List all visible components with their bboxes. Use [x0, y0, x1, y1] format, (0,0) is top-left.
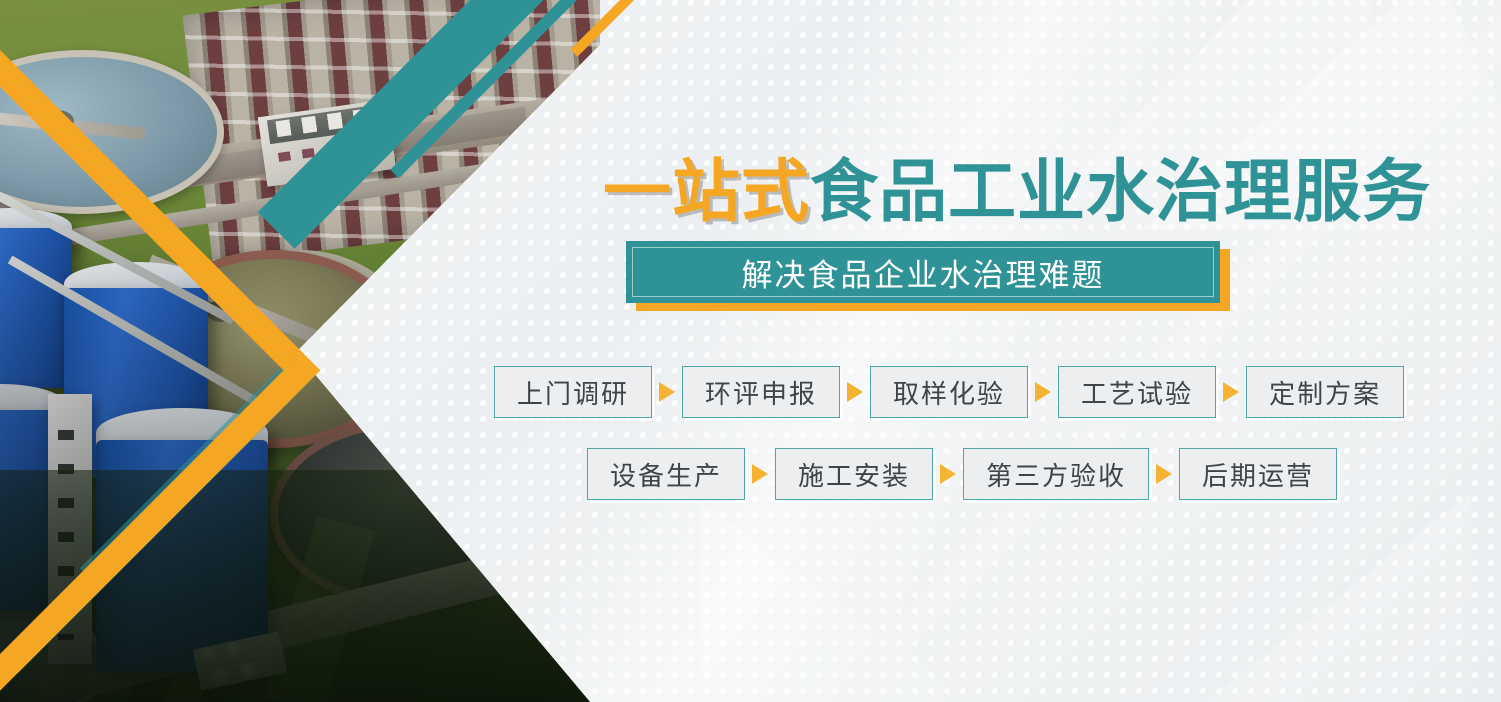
step-chip-shigonganzhuang[interactable]: 施工安装: [775, 448, 933, 500]
arrow-right-icon: [745, 448, 775, 500]
process-steps-row-2: 设备生产 施工安装 第三方验收 后期运营: [587, 448, 1337, 500]
step-chip-gongyishiyan[interactable]: 工艺试验: [1058, 366, 1216, 418]
step-chip-shebeishengchan[interactable]: 设备生产: [587, 448, 745, 500]
arrow-right-icon: [652, 366, 682, 418]
promo-banner: 一站式食品工业水治理服务 解决食品企业水治理难题 上门调研 环评申报 取样化验 …: [0, 0, 1501, 702]
arrow-right-icon: [1216, 366, 1246, 418]
step-chip-shangmendiaoyan[interactable]: 上门调研: [494, 366, 652, 418]
banner-content: 一站式食品工业水治理服务 解决食品企业水治理难题 上门调研 环评申报 取样化验 …: [0, 0, 1501, 702]
step-chip-quyanghuayan[interactable]: 取样化验: [870, 366, 1028, 418]
step-chip-houqiyunying[interactable]: 后期运营: [1179, 448, 1337, 500]
arrow-right-icon: [1028, 366, 1058, 418]
arrow-right-icon: [933, 448, 963, 500]
step-chip-dingzhifangan[interactable]: 定制方案: [1246, 366, 1404, 418]
arrow-right-icon: [840, 366, 870, 418]
process-steps-row-1: 上门调研 环评申报 取样化验 工艺试验 定制方案: [494, 366, 1404, 418]
process-steps: 上门调研 环评申报 取样化验 工艺试验 定制方案 设备生产 施工安装 第三方验收…: [0, 0, 1501, 702]
arrow-right-icon: [1149, 448, 1179, 500]
step-chip-disanfangyanshou[interactable]: 第三方验收: [963, 448, 1149, 500]
step-chip-huangpingshenbao[interactable]: 环评申报: [682, 366, 840, 418]
